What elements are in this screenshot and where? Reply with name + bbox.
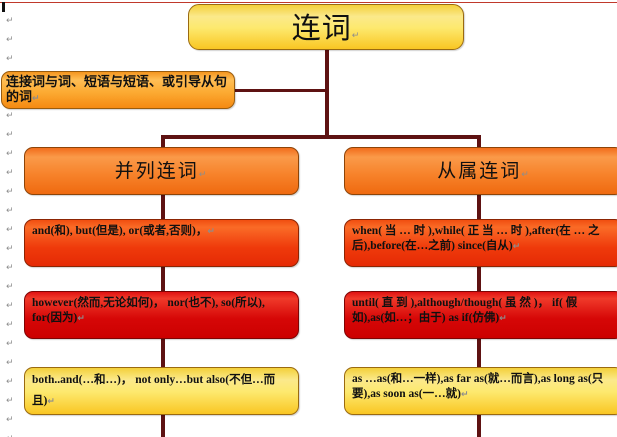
detail-box-subordinating-1[interactable]: when( 当 … 时 ),while( 正 当 … 时 ),after(在 ……: [344, 219, 617, 267]
paragraph-mark: ↵: [6, 245, 14, 254]
detail-text-subordinating-1: when( 当 … 时 ),while( 正 当 … 时 ),after(在 ……: [345, 220, 617, 255]
connector-right-spine-a: [477, 193, 481, 221]
paragraph-mark: ↵: [6, 321, 14, 330]
paragraph-mark: ↵: [6, 416, 14, 425]
text-cursor: [2, 2, 5, 12]
detail-text-coordinating-1: and(和), but(但是), or(或者,否则)，↵: [25, 220, 298, 240]
paragraph-mark: ↵: [6, 36, 14, 45]
paragraph-mark: ↵: [6, 302, 14, 311]
inline-paragraph-mark: ↵: [499, 314, 507, 324]
paragraph-mark: ↵: [6, 397, 14, 406]
inline-paragraph-mark: ↵: [521, 170, 531, 180]
inline-paragraph-mark: ↵: [77, 314, 85, 324]
diagram-title-box[interactable]: 连词↵: [188, 4, 464, 50]
detail-box-coordinating-1[interactable]: and(和), but(但是), or(或者,否则)，↵: [24, 219, 299, 267]
inline-paragraph-mark: ↵: [461, 390, 469, 400]
detail-text-coordinating-3: both..and(…和…)， not only…but also(不但…而且)…: [25, 368, 298, 413]
paragraph-mark: ↵: [6, 378, 14, 387]
paragraph-mark: ↵: [6, 359, 14, 368]
paragraph-mark: ↵: [6, 55, 14, 64]
paragraph-mark: ↵: [6, 17, 14, 26]
detail-box-subordinating-3[interactable]: as …as(和…一样),as far as(就…而言),as long as(…: [344, 367, 617, 415]
definition-text: 连接词与词、短语与短语、或引导从句的词↵: [2, 72, 234, 107]
detail-text-subordinating-2: until( 直 到 ),although/though( 虽 然 )， if(…: [345, 292, 617, 327]
document-top-rule: [0, 2, 617, 3]
connector-definition: [233, 89, 327, 92]
document-canvas: ↵↵↵↵↵↵↵↵↵↵↵↵↵↵↵↵↵↵↵↵↵↵↵ 连词↵ 连接词与词、短语与短语、…: [0, 0, 617, 437]
inline-paragraph-mark: ↵: [352, 31, 361, 41]
paragraph-mark: ↵: [6, 150, 14, 159]
branch-heading-coordinating[interactable]: 并列连词↵: [24, 147, 299, 195]
paragraph-mark: ↵: [6, 112, 14, 121]
connector-split-bar: [161, 135, 481, 139]
paragraph-mark: ↵: [6, 283, 14, 292]
detail-text-coordinating-2: however(然而,无论如何)， nor(也不), so(所以), for(因…: [25, 292, 298, 327]
definition-box[interactable]: 连接词与词、短语与短语、或引导从句的词↵: [1, 71, 235, 109]
connector-left-spine-d: [161, 413, 165, 437]
paragraph-mark: ↵: [6, 264, 14, 273]
detail-box-coordinating-2[interactable]: however(然而,无论如何)， nor(也不), so(所以), for(因…: [24, 291, 299, 339]
inline-paragraph-mark: ↵: [513, 242, 521, 252]
paragraph-mark: ↵: [6, 207, 14, 216]
inline-paragraph-mark: ↵: [207, 227, 215, 237]
inline-paragraph-mark: ↵: [32, 94, 40, 104]
detail-box-coordinating-3[interactable]: both..and(…和…)， not only…but also(不但…而且)…: [24, 367, 299, 415]
paragraph-mark: ↵: [6, 188, 14, 197]
connector-left-spine-b: [161, 265, 165, 293]
branch-heading-subordinating[interactable]: 从属连词↵: [344, 147, 617, 195]
connector-title-down: [325, 50, 329, 138]
connector-right-spine-b: [477, 265, 481, 293]
connector-left-spine-a: [161, 193, 165, 221]
detail-box-subordinating-2[interactable]: until( 直 到 ),although/though( 虽 然 )， if(…: [344, 291, 617, 339]
paragraph-mark: ↵: [6, 226, 14, 235]
branch-heading-subordinating-label: 从属连词↵: [345, 148, 617, 195]
paragraph-mark: ↵: [6, 169, 14, 178]
inline-paragraph-mark: ↵: [199, 170, 209, 180]
connector-right-spine-d: [477, 413, 481, 437]
connector-left-spine-c: [161, 337, 165, 369]
paragraph-mark: ↵: [6, 131, 14, 140]
diagram-title-text: 连词↵: [189, 5, 463, 50]
branch-heading-coordinating-label: 并列连词↵: [25, 148, 298, 195]
paragraph-mark: ↵: [6, 340, 14, 349]
detail-text-subordinating-3: as …as(和…一样),as far as(就…而言),as long as(…: [345, 368, 617, 403]
connector-right-spine-c: [477, 337, 481, 369]
inline-paragraph-mark: ↵: [47, 397, 55, 407]
